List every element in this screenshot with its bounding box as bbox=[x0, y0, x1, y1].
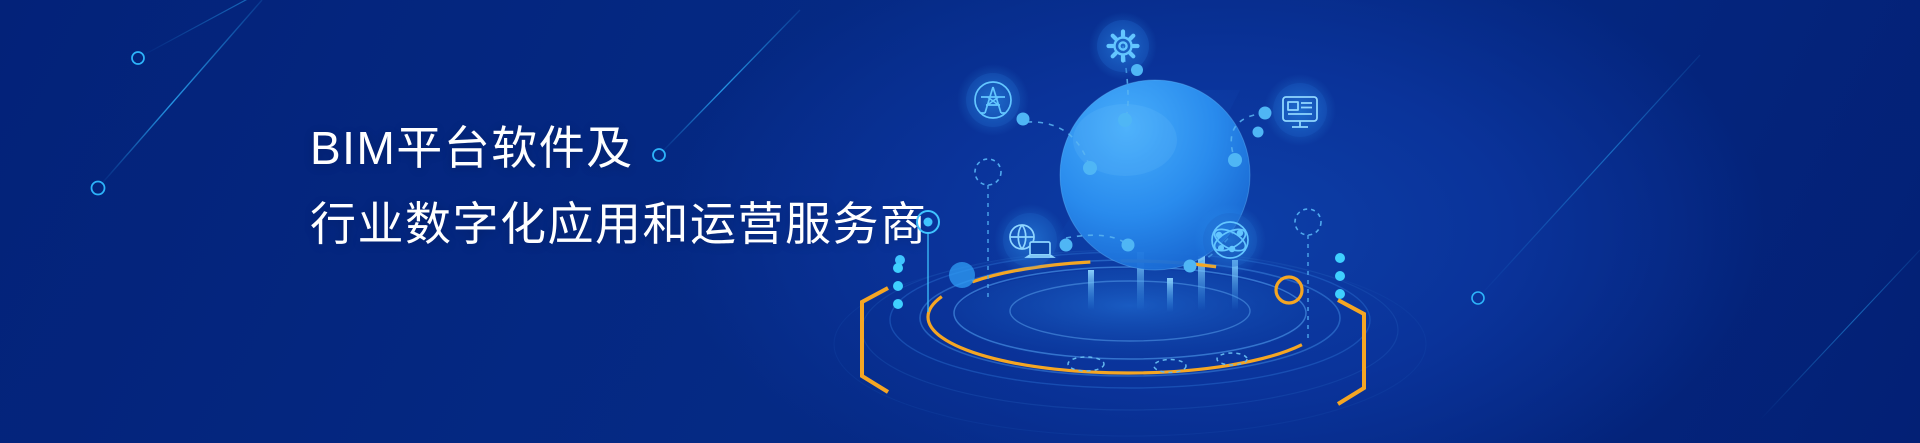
headline-line-1: BIM平台软件及 bbox=[310, 110, 928, 186]
decor-circle-4 bbox=[1472, 292, 1484, 304]
decor-line-1 bbox=[98, 0, 262, 188]
page-title: BIM平台软件及 行业数字化应用和运营服务商 bbox=[310, 110, 928, 262]
decor-circle-2 bbox=[132, 52, 144, 64]
decor-line-5 bbox=[1760, 250, 1920, 420]
hero-banner: BIM平台软件及 行业数字化应用和运营服务商 bbox=[0, 0, 1920, 443]
gear-icon[interactable] bbox=[1089, 12, 1157, 80]
left-bracket bbox=[862, 288, 888, 392]
dot-column-right bbox=[1335, 253, 1345, 299]
dot-column-left bbox=[893, 263, 903, 309]
decor-circle-1 bbox=[92, 182, 105, 195]
bim-label: BIM bbox=[1895, 143, 1920, 203]
bim-illustration: BIM bbox=[840, 0, 1420, 443]
network-node-icon[interactable] bbox=[1194, 204, 1266, 276]
decor-line-4 bbox=[1478, 55, 1700, 298]
headline-line-2: 行业数字化应用和运营服务商 bbox=[310, 186, 928, 262]
power-tower-icon[interactable] bbox=[957, 64, 1030, 136]
monitor-icon[interactable] bbox=[1253, 74, 1337, 146]
bim-illustration-svg bbox=[840, 0, 1420, 443]
decor-line-2 bbox=[138, 0, 320, 58]
